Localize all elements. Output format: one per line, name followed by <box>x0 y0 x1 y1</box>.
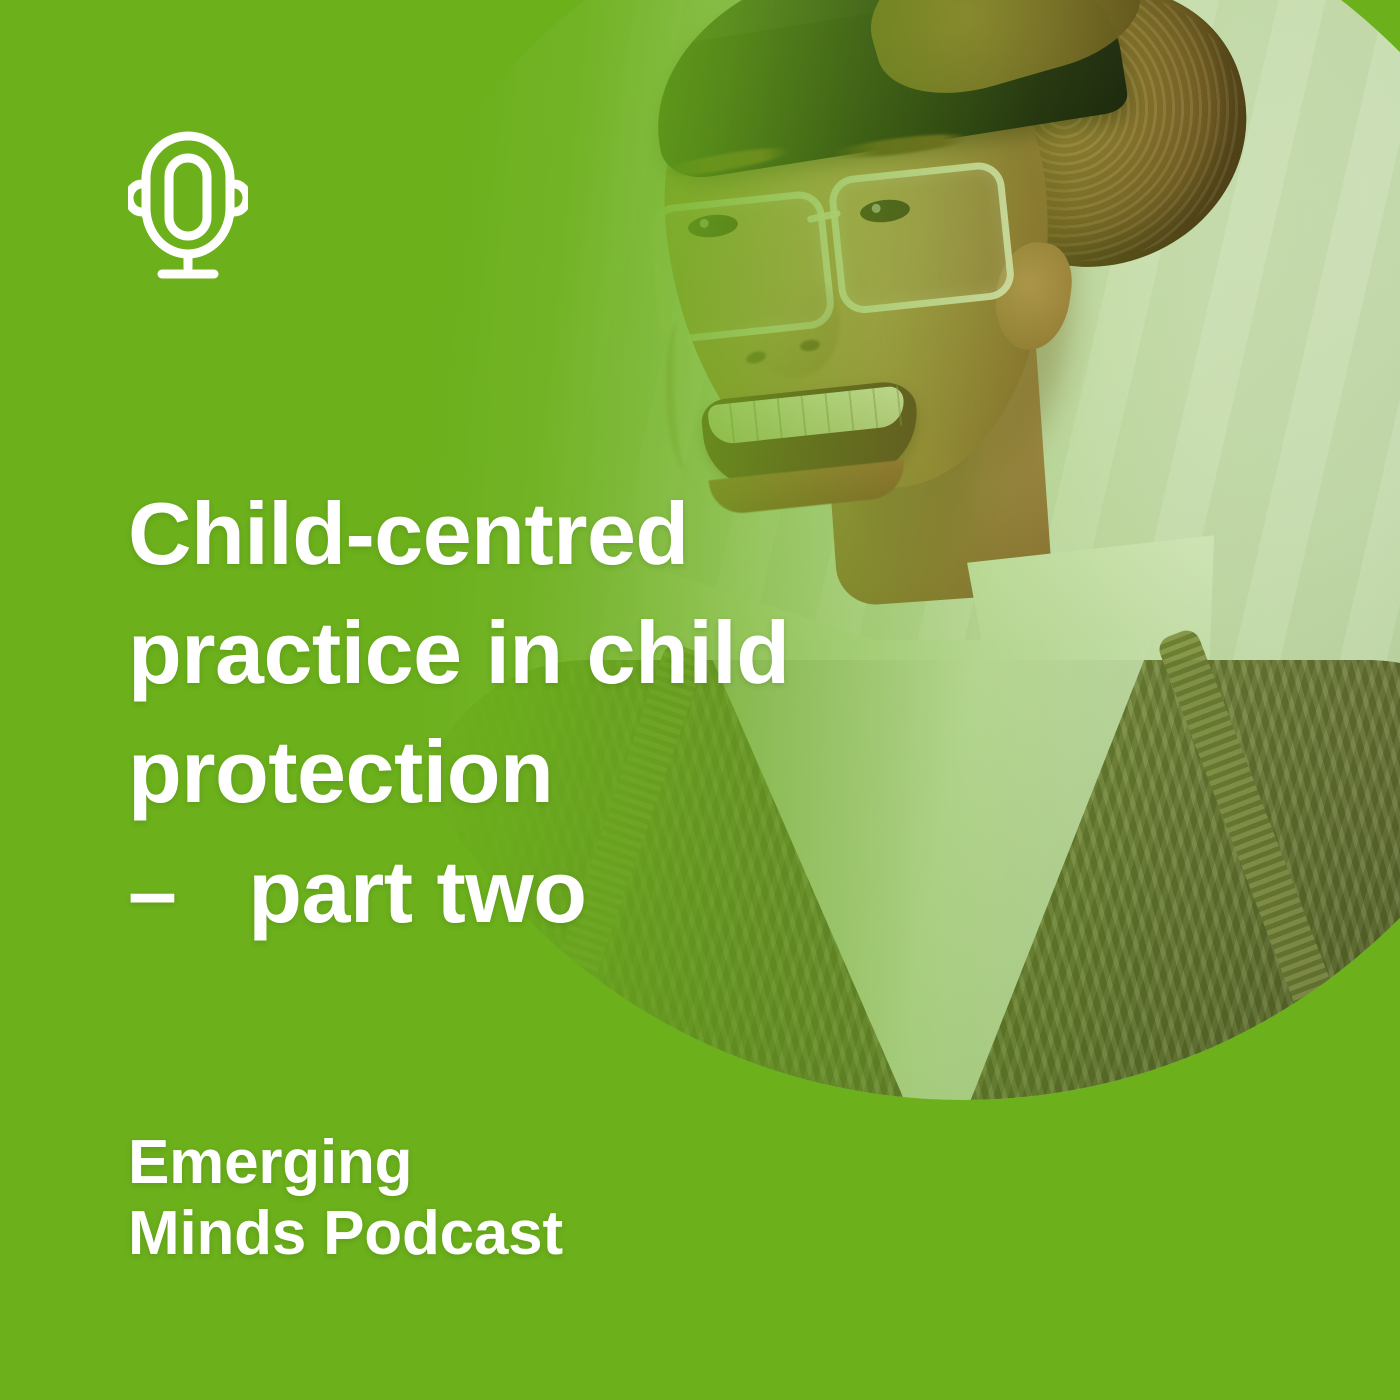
podcast-microphone-icon <box>128 122 248 287</box>
podcast-cover-art: Child-centred practice in child protecti… <box>0 0 1400 1400</box>
lens-right <box>827 160 1016 316</box>
episode-title: Child-centred practice in child protecti… <box>128 474 918 951</box>
show-name: Emerging Minds Podcast <box>128 1128 563 1269</box>
